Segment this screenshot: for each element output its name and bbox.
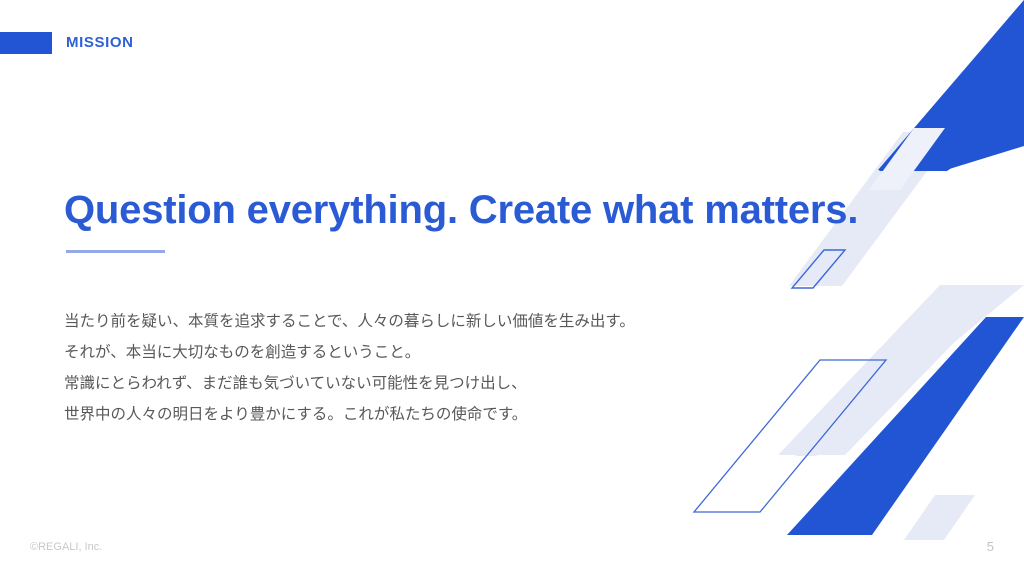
lavender-parallelogram-bottom-icon (904, 495, 975, 540)
decorative-shapes (0, 0, 1024, 576)
outlined-parallelogram-small-icon (792, 250, 845, 288)
body-line: 常識にとらわれず、まだ誰も気づいていない可能性を見つけ出し、 (64, 368, 764, 399)
lavender-band-lower-icon (795, 285, 1024, 456)
eyebrow-accent-block (0, 32, 52, 54)
body-line: 世界中の人々の明日をより豊かにする。これが私たちの使命です。 (64, 399, 764, 430)
page-title: Question everything. Create what matters… (64, 184, 858, 236)
body-copy-block: 当たり前を疑い、本質を追求することで、人々の暮らしに新しい価値を生み出す。 それ… (64, 306, 764, 430)
blue-band-upper-main-icon (879, 0, 1024, 171)
lavender-band-lower-b-icon (778, 285, 1010, 455)
lavender-notch-icon (869, 128, 945, 190)
body-line: 当たり前を疑い、本質を追求することで、人々の暮らしに新しい価値を生み出す。 (64, 306, 764, 337)
blue-band-lower-icon (787, 317, 1024, 535)
title-divider (66, 250, 165, 253)
copyright-text: ©REGALI, Inc. (30, 540, 102, 554)
slide-canvas: MISSION Question everything. Create what… (0, 0, 1024, 576)
blue-band-upper-icon (878, 0, 1024, 170)
page-number: 5 (987, 539, 994, 555)
eyebrow-label: MISSION (66, 33, 134, 53)
body-line: それが、本当に大切なものを創造するということ。 (64, 337, 764, 368)
blue-band-upper-b-icon (928, 34, 1024, 170)
